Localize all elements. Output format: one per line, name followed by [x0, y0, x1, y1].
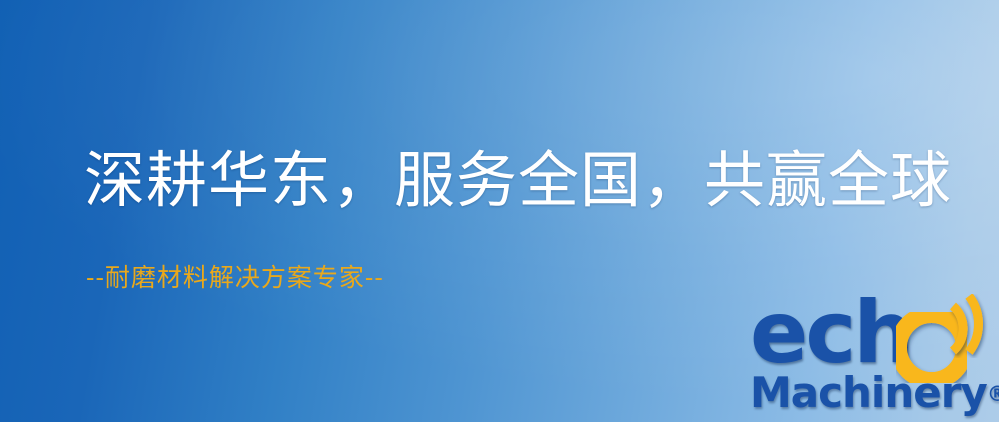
promo-banner: 深耕华东，服务全国，共赢全球 --耐磨材料解决方案专家-- ech: [0, 0, 999, 422]
logo-echo-text: ech: [750, 290, 912, 376]
brand-logo: ech: [748, 296, 999, 422]
page-title: 深耕华东，服务全国，共赢全球: [84, 150, 952, 211]
registered-trademark-mark: ®: [987, 382, 999, 406]
logo-signal-arcs-icon: [933, 294, 999, 358]
logo-machinery-text: Machinery®: [750, 372, 999, 414]
logo-machinery-label: Machinery: [750, 368, 987, 417]
page-subtitle: --耐磨材料解决方案专家--: [86, 265, 384, 290]
